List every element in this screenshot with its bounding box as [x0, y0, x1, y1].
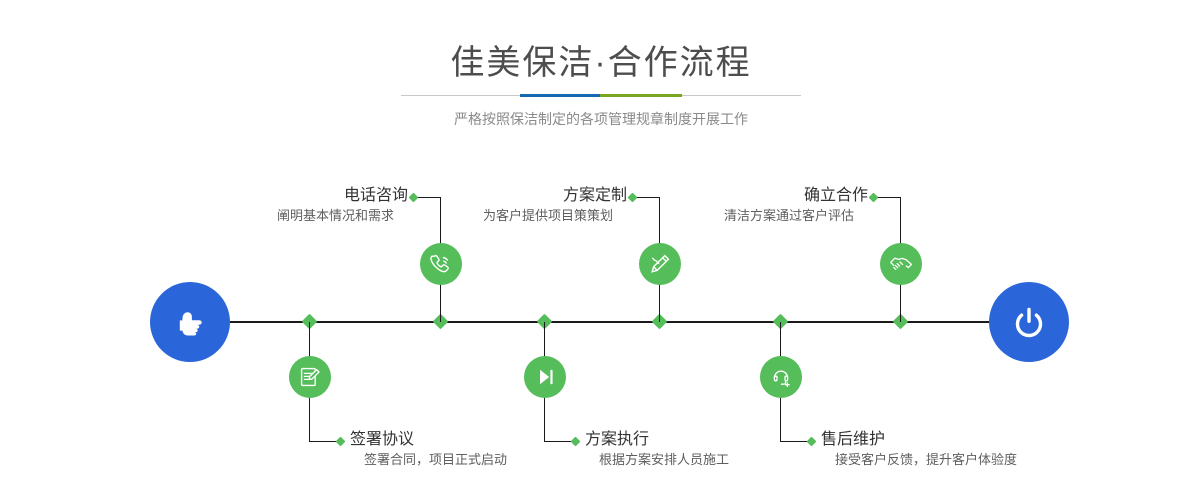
step-title-step-6: 确立合作 [688, 186, 868, 206]
step-title-step-1: 签署协议 [350, 430, 507, 450]
step-icon-step-5[interactable] [760, 356, 802, 398]
pencil-plan-icon [647, 251, 673, 277]
play-execute-icon [532, 364, 558, 390]
step-desc-step-5: 接受客户反馈，提升客户体验度 [821, 450, 1017, 469]
page-subtitle: 严格按照保洁制定的各项管理规章制度开展工作 [0, 108, 1202, 130]
step-label-step-5: 售后维护 接受客户反馈，提升客户体验度 [821, 430, 1017, 469]
connector-tip-step-3 [571, 437, 581, 447]
connector-tip-step-4 [628, 193, 638, 203]
connector-tip-step-1 [336, 437, 346, 447]
page-title: 佳美保洁·合作流程 [0, 42, 1202, 84]
step-label-step-6: 确立合作 清洁方案通过客户评估 [688, 186, 868, 225]
step-icon-step-4[interactable] [639, 243, 681, 285]
step-title-step-4: 方案定制 [447, 186, 627, 206]
step-desc-step-2: 阐明基本情况和需求 [230, 206, 408, 225]
connector-tip-step-5 [807, 437, 817, 447]
flowchart-canvas: 佳美保洁·合作流程 严格按照保洁制定的各项管理规章制度开展工作 [0, 0, 1202, 502]
step-label-step-3: 方案执行 根据方案安排人员施工 [585, 430, 729, 469]
step-title-step-5: 售后维护 [821, 430, 1017, 450]
step-label-step-4: 方案定制 为客户提供项目策策划 [447, 186, 627, 225]
step-icon-step-6[interactable] [880, 243, 922, 285]
flow-end-node[interactable] [989, 282, 1069, 362]
step-icon-step-2[interactable] [420, 243, 462, 285]
step-title-step-3: 方案执行 [585, 430, 729, 450]
phone-call-icon [428, 251, 454, 277]
step-icon-step-1[interactable] [289, 356, 331, 398]
step-label-step-2: 电话咨询 阐明基本情况和需求 [230, 186, 408, 225]
step-desc-step-3: 根据方案安排人员施工 [585, 450, 729, 469]
connector-tip-step-6 [869, 193, 879, 203]
connector-tip-step-2 [409, 193, 419, 203]
step-desc-step-4: 为客户提供项目策策划 [447, 206, 627, 225]
step-icon-step-3[interactable] [524, 356, 566, 398]
step-desc-step-1: 签署合同，项目正式启动 [350, 450, 507, 469]
document-edit-icon [297, 364, 323, 390]
handshake-icon [888, 251, 914, 277]
flow-start-node[interactable] [150, 282, 230, 362]
timeline-spine [230, 321, 996, 323]
title-divider [401, 94, 801, 97]
pointing-hand-icon [169, 301, 211, 343]
headset-support-icon [768, 364, 794, 390]
divider-segment-green [600, 94, 682, 97]
step-label-step-1: 签署协议 签署合同，项目正式启动 [350, 430, 507, 469]
step-desc-step-6: 清洁方案通过客户评估 [688, 206, 868, 225]
step-title-step-2: 电话咨询 [230, 186, 408, 206]
divider-segment-blue [520, 94, 600, 97]
power-icon [1008, 301, 1050, 343]
